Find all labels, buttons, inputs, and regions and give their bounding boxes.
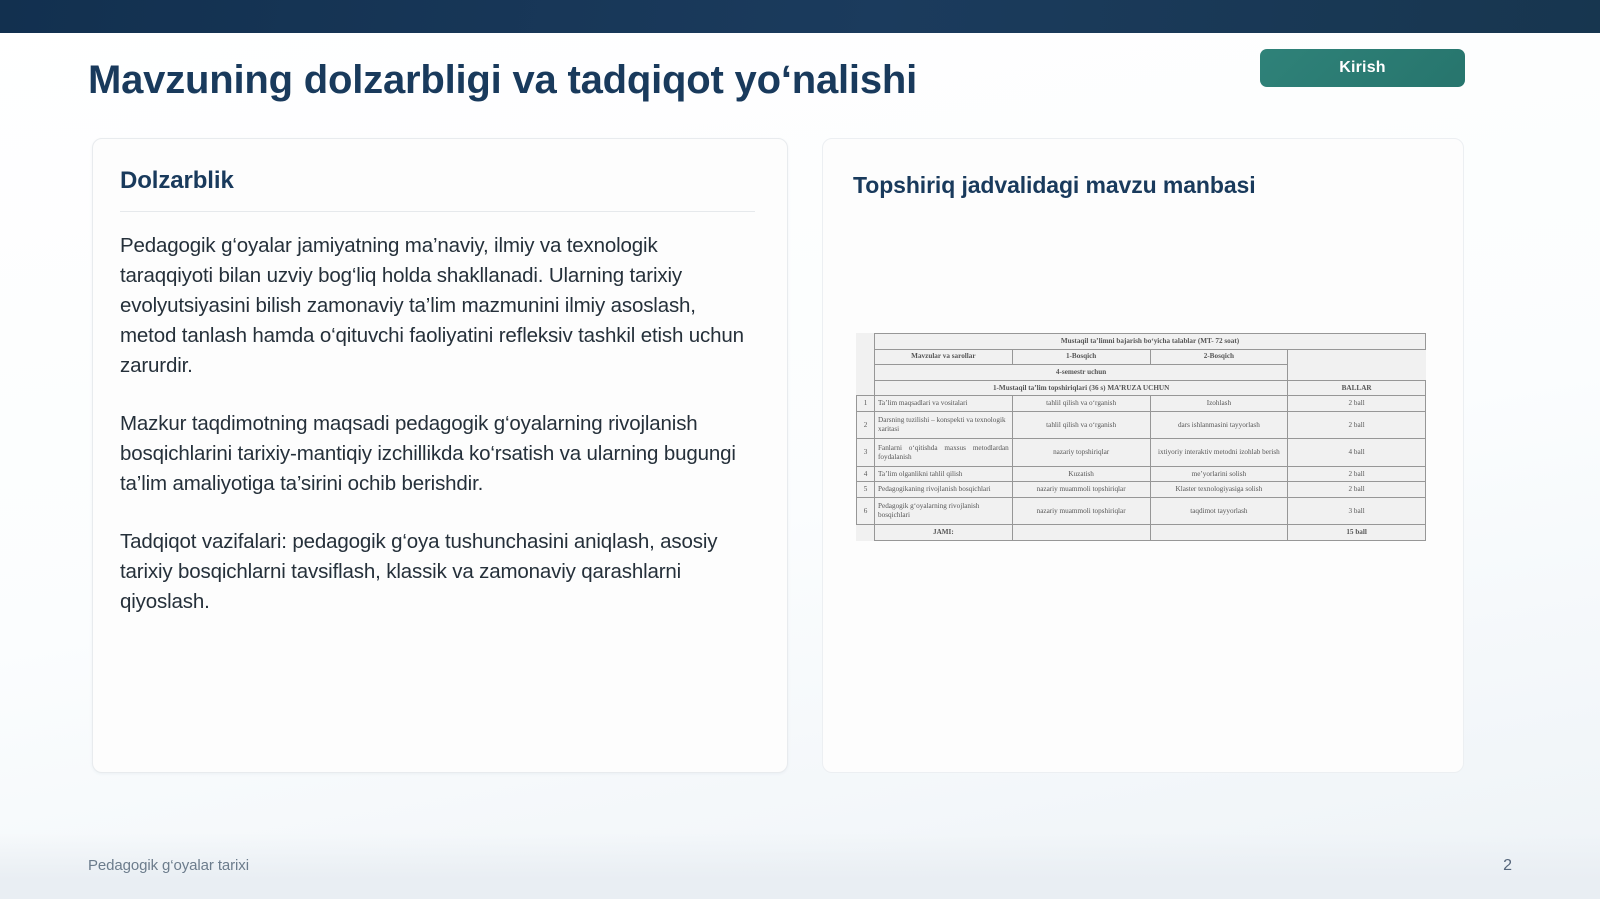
table-row: 2 Darsning tuzilishi – konspekti va texn… xyxy=(857,412,1426,439)
status-badge-label: Kirish xyxy=(1339,59,1386,77)
table-row-ballar-header: 1-Mustaqil ta’lim topshiriqlari (36 s) M… xyxy=(857,380,1426,396)
row-stage1: nazariy topshiriqlar xyxy=(1012,439,1150,466)
row-score: 2 ball xyxy=(1288,466,1426,482)
row-topic: Fanlarni o‘qitishda maxsus metodlardan f… xyxy=(875,439,1013,466)
row-stage1: tahlil qilish va o‘rganish xyxy=(1012,412,1150,439)
row-score: 2 ball xyxy=(1288,396,1426,412)
row-number: 2 xyxy=(857,412,875,439)
row-stage1: nazariy muammoli topshiriqlar xyxy=(1012,482,1150,498)
col-header-ballar: BALLAR xyxy=(1288,380,1426,396)
row-number: 5 xyxy=(857,482,875,498)
row-stage2: ixtiyoriy interaktiv metodni izohlab ber… xyxy=(1150,439,1288,466)
paragraph-actuality: Pedagogik g‘oyalar jamiyatning ma’naviy,… xyxy=(120,231,755,381)
row-stage1: nazariy muammoli topshiriqlar xyxy=(1012,497,1150,524)
table-row: 5 Pedagogikaning rivojlanish bosqichlari… xyxy=(857,482,1426,498)
row-number: 3 xyxy=(857,439,875,466)
row-topic: Pedagogikaning rivojlanish bosqichlari xyxy=(875,482,1013,498)
row-number: 1 xyxy=(857,396,875,412)
footer-label: Pedagogik g‘oyalar tarixi xyxy=(88,857,249,874)
row-stage2: Izohlash xyxy=(1150,396,1288,412)
row-topic: Darsning tuzilishi – konspekti va texnol… xyxy=(875,412,1013,439)
top-accent-bar xyxy=(0,0,1600,33)
table-title-cell: Mustaqil ta’limni bajarish bo‘yicha tala… xyxy=(875,334,1426,350)
row-number: 4 xyxy=(857,466,875,482)
row-score: 4 ball xyxy=(1288,439,1426,466)
total-value: 15 ball xyxy=(1288,525,1426,541)
left-card-heading: Dolzarblik xyxy=(120,167,755,195)
table-row-colheaders: Mavzular va sarollar 1-Bosqich 2-Bosqich xyxy=(857,349,1426,365)
row-stage2: me’yorlarini solish xyxy=(1150,466,1288,482)
row-stage1: tahlil qilish va o‘rganish xyxy=(1012,396,1150,412)
row-score: 2 ball xyxy=(1288,482,1426,498)
task-table: Mustaqil ta’limni bajarish bo‘yicha tala… xyxy=(856,333,1426,541)
row-stage2: taqdimot tayyorlash xyxy=(1150,497,1288,524)
semester-row-cell: 4-semestr uchun xyxy=(875,365,1288,381)
row-topic: Ta’lim maqsadlari va vositalari xyxy=(875,396,1013,412)
dolzarblik-card: Dolzarblik Pedagogik g‘oyalar jamiyatnin… xyxy=(92,138,788,773)
table-row: 3 Fanlarni o‘qitishda maxsus metodlardan… xyxy=(857,439,1426,466)
paragraph-tasks: Tadqiqot vazifalari: pedagogik g‘oya tus… xyxy=(120,527,755,617)
status-badge[interactable]: Kirish xyxy=(1260,49,1465,87)
col-header-bosqich-1: 1-Bosqich xyxy=(1012,349,1150,365)
topshiriq-card: Topshiriq jadvalidagi mavzu manbasi Must… xyxy=(822,138,1464,773)
table-row: 1 Ta’lim maqsadlari va vositalari tahlil… xyxy=(857,396,1426,412)
col-header-mavzular: Mavzular va sarollar xyxy=(875,349,1013,365)
total-label: JAMI: xyxy=(875,525,1013,541)
table-row-total: JAMI: 15 ball xyxy=(857,525,1426,541)
slide-footer: Pedagogik g‘oyalar tarixi 2 xyxy=(0,833,1600,899)
table-row-title: Mustaqil ta’limni bajarish bo‘yicha tala… xyxy=(857,334,1426,350)
scanned-task-table-image: Mustaqil ta’limni bajarish bo‘yicha tala… xyxy=(856,333,1426,541)
page-number: 2 xyxy=(1503,857,1512,875)
col-header-bosqich-2: 2-Bosqich xyxy=(1150,349,1288,365)
row-number: 6 xyxy=(857,497,875,524)
row-stage2: Klaster texnologiyasiga solish xyxy=(1150,482,1288,498)
slide-header: Mavzuning dolzarbligi va tadqiqot yo‘nal… xyxy=(0,33,1600,133)
table-row: 4 Ta’lim olganlikni tahlil qilish Kuzati… xyxy=(857,466,1426,482)
row-score: 3 ball xyxy=(1288,497,1426,524)
row-topic: Pedagogik g‘oyalarning rivojlanish bosqi… xyxy=(875,497,1013,524)
row-stage2: dars ishlanmasini tayyorlash xyxy=(1150,412,1288,439)
row-topic: Ta’lim olganlikni tahlil qilish xyxy=(875,466,1013,482)
paragraph-purpose: Mazkur taqdimotning maqsadi pedagogik g‘… xyxy=(120,409,755,499)
row-stage1: Kuzatish xyxy=(1012,466,1150,482)
table-row: 6 Pedagogik g‘oyalarning rivojlanish bos… xyxy=(857,497,1426,524)
heading-divider xyxy=(120,211,755,212)
slide-content: Dolzarblik Pedagogik g‘oyalar jamiyatnin… xyxy=(0,133,1600,833)
right-card-heading: Topshiriq jadvalidagi mavzu manbasi xyxy=(853,172,1433,199)
page-title: Mavzuning dolzarbligi va tadqiqot yo‘nal… xyxy=(88,58,917,103)
section-row-cell: 1-Mustaqil ta’lim topshiriqlari (36 s) M… xyxy=(875,380,1288,396)
row-score: 2 ball xyxy=(1288,412,1426,439)
